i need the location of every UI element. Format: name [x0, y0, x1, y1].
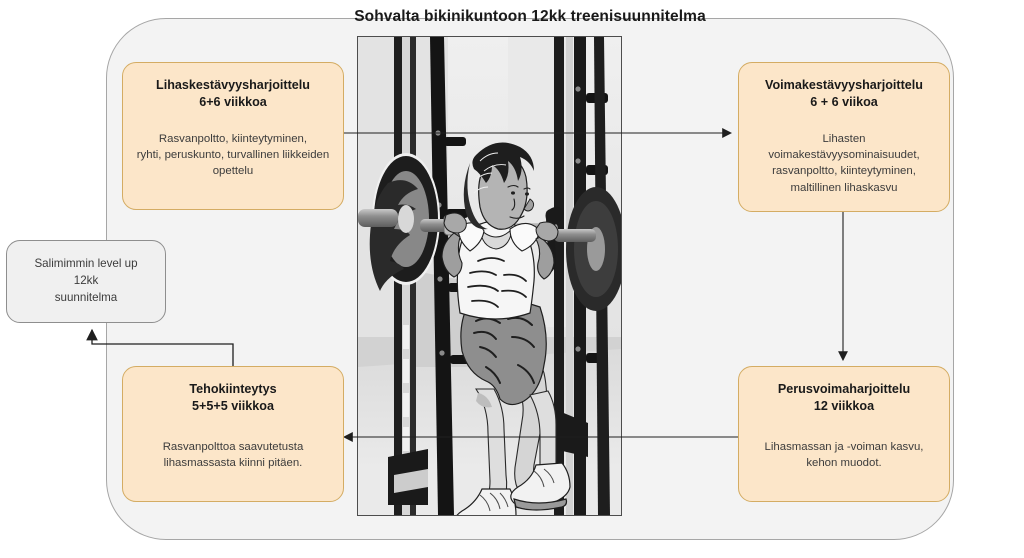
node-lihaskestavyysharjoittelu[interactable]: Lihaskestävyysharjoittelu 6+6 viikkoa Ra…	[122, 62, 344, 210]
node-body: Rasvanpolttoa saavutetusta lihasmassasta…	[163, 439, 304, 471]
gym-squat-illustration	[357, 36, 622, 516]
node-level-up-suunnitelma[interactable]: Salimimmin level up 12kk suunnitelma	[6, 240, 166, 323]
node-title: Perusvoimaharjoittelu 12 viikkoa	[778, 381, 910, 415]
node-voimakestavyysharjoittelu[interactable]: Voimakestävyysharjoittelu 6 + 6 viikoa L…	[738, 62, 950, 212]
node-tehokiinteytys[interactable]: Tehokiinteytys 5+5+5 viikkoa Rasvanpoltt…	[122, 366, 344, 502]
node-title: Lihaskestävyysharjoittelu 6+6 viikkoa	[156, 77, 310, 111]
node-body: Lihasten voimakestävyysominaisuudet, ras…	[768, 131, 919, 196]
node-title: Tehokiinteytys 5+5+5 viikkoa	[189, 381, 276, 415]
page-title: Sohvalta bikinikuntoon 12kk treenisuunni…	[300, 8, 760, 26]
node-label: Salimimmin level up 12kk suunnitelma	[7, 256, 165, 306]
node-perusvoimaharjoittelu[interactable]: Perusvoimaharjoittelu 12 viikkoa Lihasma…	[738, 366, 950, 502]
node-body: Rasvanpoltto, kiinteytyminen, ryhti, per…	[137, 131, 329, 180]
diagram-canvas: Sohvalta bikinikuntoon 12kk treenisuunni…	[0, 0, 1024, 558]
node-title: Voimakestävyysharjoittelu 6 + 6 viikoa	[765, 77, 923, 111]
node-body: Lihasmassan ja -voiman kasvu, kehon muod…	[765, 439, 924, 471]
